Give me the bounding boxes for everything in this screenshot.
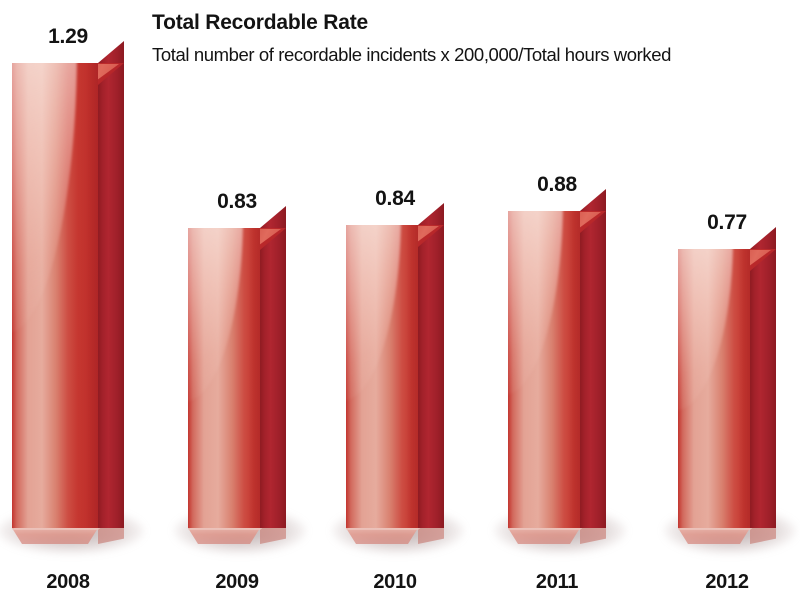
bar-side-face bbox=[98, 41, 124, 528]
axis-year-label-2008: 2008 bbox=[12, 571, 124, 594]
bar-front-face bbox=[678, 249, 750, 528]
bar-front-face bbox=[508, 211, 580, 528]
bar-group-2009[interactable]: 0.832009 bbox=[188, 228, 286, 528]
bar-gloss-highlight bbox=[346, 225, 401, 401]
bar-group-2011[interactable]: 0.882011 bbox=[508, 211, 606, 528]
bar-base-front bbox=[188, 528, 260, 544]
bar-front-face bbox=[12, 63, 98, 528]
bar-group-2008[interactable]: 1.292008 bbox=[12, 63, 124, 528]
bar-value-label-2010: 0.84 bbox=[346, 187, 444, 211]
bar-base-front bbox=[12, 528, 98, 544]
bar-side-face bbox=[260, 206, 286, 528]
bar-side-face bbox=[418, 203, 444, 528]
bar-group-2010[interactable]: 0.842010 bbox=[346, 225, 444, 528]
axis-year-label-2012: 2012 bbox=[678, 571, 776, 594]
bar-value-label-2008: 1.29 bbox=[12, 25, 124, 49]
bar-value-label-2011: 0.88 bbox=[508, 173, 606, 197]
bar-value-label-2009: 0.83 bbox=[188, 190, 286, 214]
bar-front-face bbox=[188, 228, 260, 528]
bar-value-label-2012: 0.77 bbox=[678, 211, 776, 235]
bar-gloss-highlight bbox=[188, 228, 243, 402]
bar-gloss-highlight bbox=[678, 249, 733, 411]
bar-front-face bbox=[346, 225, 418, 528]
axis-year-label-2011: 2011 bbox=[508, 571, 606, 594]
axis-year-label-2010: 2010 bbox=[346, 571, 444, 594]
bar-base-front bbox=[346, 528, 418, 544]
bar-group-2012[interactable]: 0.772012 bbox=[678, 249, 776, 528]
bar-base-front bbox=[678, 528, 750, 544]
plot-area: 1.2920080.8320090.8420100.8820110.772012 bbox=[0, 0, 800, 610]
bar-side-face bbox=[580, 189, 606, 528]
bar-gloss-highlight bbox=[12, 63, 77, 333]
bar-side-face bbox=[750, 227, 776, 528]
bar-base-front bbox=[508, 528, 580, 544]
axis-year-label-2009: 2009 bbox=[188, 571, 286, 594]
chart-root: Total Recordable Rate Total number of re… bbox=[0, 0, 800, 610]
bar-gloss-highlight bbox=[508, 211, 563, 395]
